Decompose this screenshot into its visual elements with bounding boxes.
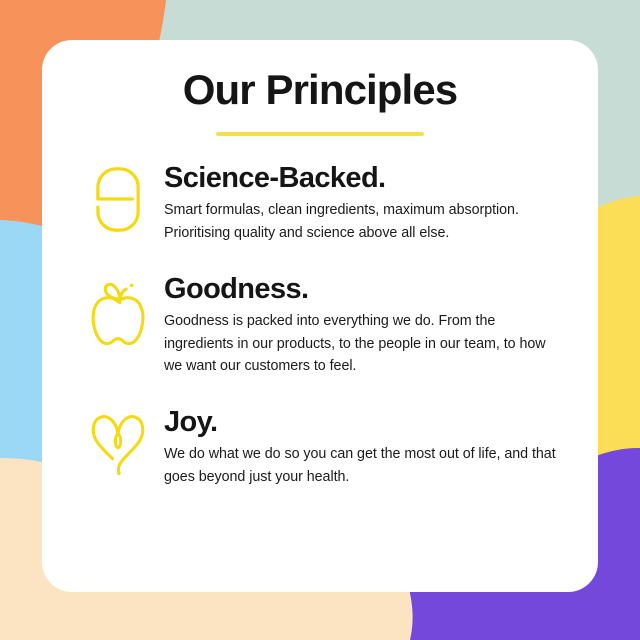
- principle-heading: Science-Backed.: [164, 162, 566, 194]
- principle-heading: Goodness.: [164, 273, 566, 305]
- title-block: Our Principles: [42, 68, 598, 136]
- title-underline-divider: [216, 132, 424, 136]
- principle-item-goodness: Goodness. Goodness is packed into everyt…: [42, 273, 598, 378]
- principle-body: Goodness. Goodness is packed into everyt…: [164, 273, 572, 378]
- principle-item-science-backed: Science-Backed. Smart formulas, clean in…: [42, 162, 598, 245]
- principle-description: Goodness is packed into everything we do…: [164, 310, 566, 378]
- page-title: Our Principles: [42, 68, 598, 112]
- capsule-pill-icon: [72, 162, 164, 233]
- principle-description: Smart formulas, clean ingredients, maxim…: [164, 199, 566, 244]
- heart-icon: [72, 406, 164, 475]
- principles-list: Science-Backed. Smart formulas, clean in…: [42, 162, 598, 488]
- principle-body: Joy. We do what we do so you can get the…: [164, 406, 572, 489]
- principle-heading: Joy.: [164, 406, 566, 438]
- apple-icon: [72, 273, 164, 350]
- principle-description: We do what we do so you can get the most…: [164, 443, 566, 488]
- content-card: Our Principles: [42, 40, 598, 592]
- principle-item-joy: Joy. We do what we do so you can get the…: [42, 406, 598, 489]
- principles-poster: Our Principles: [0, 0, 640, 640]
- principle-body: Science-Backed. Smart formulas, clean in…: [164, 162, 572, 245]
